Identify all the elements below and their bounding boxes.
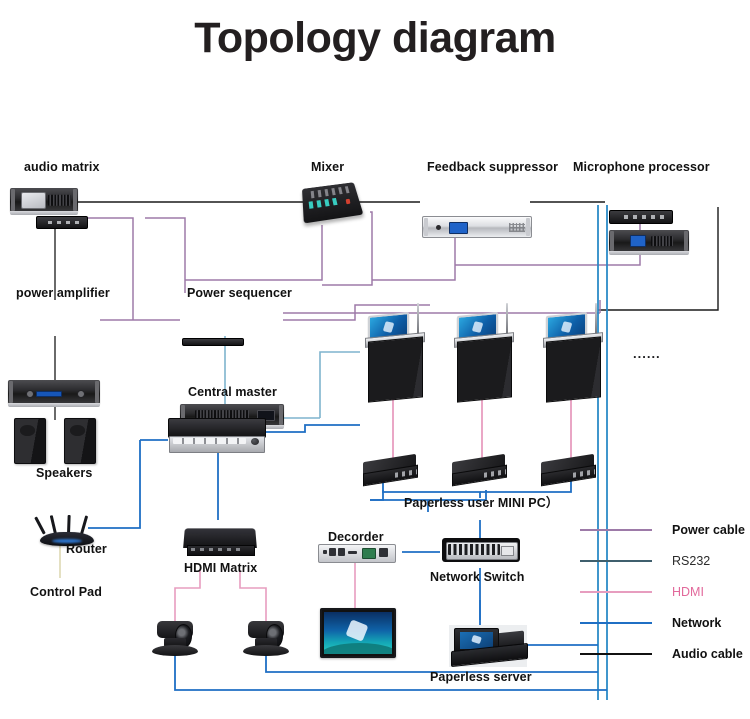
device-feedback-suppressor[interactable] xyxy=(422,216,532,238)
label-paperless-mini-pc: Paperless user MINI PC） xyxy=(404,492,558,511)
camera-base xyxy=(152,645,198,656)
display-panel xyxy=(449,222,468,234)
legend-item-rs232: RS232 xyxy=(580,553,748,569)
port-row xyxy=(624,215,669,219)
switch-port-array xyxy=(448,544,499,555)
microphone-stalk xyxy=(417,303,419,336)
rack-ear-right xyxy=(684,231,688,251)
decoder-led xyxy=(323,550,327,554)
label-network-switch: Network Switch xyxy=(430,570,524,584)
lift-cabinet xyxy=(368,336,423,403)
legend-item-hdmi: HDMI xyxy=(580,584,748,600)
device-power-amplifier[interactable] xyxy=(8,380,100,404)
vent-grille xyxy=(651,236,673,246)
hdmi-matrix-ports xyxy=(191,548,241,551)
lift-cabinet xyxy=(457,336,512,403)
label-control-pad: Control Pad xyxy=(30,585,102,599)
label-router: Router xyxy=(66,542,107,556)
legend-label-audio-cable: Audio cable xyxy=(672,646,743,662)
decoder-slot xyxy=(348,551,357,554)
device-mini-pc-2[interactable] xyxy=(451,458,509,484)
microphone-stalk xyxy=(506,303,508,336)
vent-grille xyxy=(509,223,524,232)
label-power-amplifier: power amplifier xyxy=(16,286,110,300)
device-power-sequencer-bar xyxy=(182,338,244,346)
indicator-led xyxy=(436,225,441,230)
device-audio-matrix-expander[interactable] xyxy=(36,216,88,229)
label-hdmi-matrix: HDMI Matrix xyxy=(184,561,257,575)
antenna-1 xyxy=(34,516,45,534)
antenna-2 xyxy=(50,515,57,534)
port-row xyxy=(48,221,84,225)
device-speaker-right[interactable] xyxy=(64,418,96,464)
central-master-buttons xyxy=(173,438,246,443)
device-mini-pc-3[interactable] xyxy=(540,458,598,484)
device-hdmi-matrix[interactable] xyxy=(184,528,256,558)
legend-swatch-rs232 xyxy=(580,560,652,562)
device-ptz-camera-2[interactable] xyxy=(243,620,289,656)
device-paperless-server[interactable] xyxy=(449,625,527,667)
lift-cabinet xyxy=(546,336,601,403)
rack-ear-left xyxy=(424,218,428,236)
device-speaker-left[interactable] xyxy=(14,418,46,464)
legend-swatch-audio-cable xyxy=(580,653,652,655)
device-network-switch[interactable] xyxy=(442,538,520,562)
rack-lip xyxy=(609,251,689,255)
camera-base xyxy=(243,645,289,656)
device-router[interactable] xyxy=(38,512,96,546)
gain-knob-right xyxy=(77,390,85,398)
decoder-port xyxy=(379,548,388,557)
legend-item-audio-cable: Audio cable xyxy=(580,646,748,662)
tv-screen-image xyxy=(324,612,392,654)
rack-ear-right xyxy=(526,218,530,236)
legend-label-power-cable: Power cable xyxy=(672,522,745,538)
label-microphone-processor: Microphone processor xyxy=(573,160,710,174)
legend-label-rs232: RS232 xyxy=(672,553,710,569)
legend-item-network: Network xyxy=(580,615,748,631)
central-master-top xyxy=(168,418,266,438)
device-display-tv[interactable] xyxy=(320,608,396,658)
rack-ear-left xyxy=(11,189,15,211)
label-paperless-server: Paperless server xyxy=(430,670,532,684)
display-panel xyxy=(630,235,646,247)
legend-swatch-hdmi xyxy=(580,591,652,593)
page-title: Topology diagram xyxy=(0,14,750,63)
device-mixer[interactable] xyxy=(303,182,359,220)
device-audio-matrix[interactable] xyxy=(10,188,78,212)
topology-diagram-canvas: Topology diagram xyxy=(0,0,750,719)
legend-label-network: Network xyxy=(672,615,721,631)
label-power-sequencer: Power sequencer xyxy=(187,286,292,300)
rack-ear-right xyxy=(95,381,99,403)
device-mini-pc-1[interactable] xyxy=(362,458,420,484)
legend-swatch-network xyxy=(580,622,652,624)
device-lift-monitor-3[interactable] xyxy=(542,312,602,398)
rack-ear-right xyxy=(73,189,77,211)
rack-lip xyxy=(10,211,78,215)
gain-knob-left xyxy=(26,390,34,398)
device-lift-monitor-1[interactable] xyxy=(364,312,424,398)
vent-grille xyxy=(48,195,71,206)
antenna-4 xyxy=(80,515,88,534)
microphone-stalk xyxy=(595,303,597,336)
label-more-seats: ...... xyxy=(633,346,661,361)
antenna-3 xyxy=(67,515,70,534)
rack-ear-right xyxy=(279,405,283,425)
device-decoder[interactable] xyxy=(318,544,394,561)
label-decoder: Decorder xyxy=(328,530,384,544)
label-speakers: Speakers xyxy=(36,466,92,480)
rack-ear-left xyxy=(9,381,13,403)
decoder-button-2 xyxy=(338,548,345,556)
label-central-master: Central master xyxy=(188,385,277,399)
legend: Power cable RS232 HDMI Network Audio cab… xyxy=(580,522,748,664)
rack-lip xyxy=(8,403,100,407)
device-ptz-camera-1[interactable] xyxy=(152,620,198,656)
decoder-button-1 xyxy=(329,548,336,556)
decoder-display xyxy=(362,548,376,559)
label-mixer: Mixer xyxy=(311,160,344,174)
legend-label-hdmi: HDMI xyxy=(672,584,704,600)
switch-uplink-module xyxy=(501,546,514,556)
device-microphone-processor-base[interactable] xyxy=(609,210,673,224)
rack-ear-left xyxy=(610,231,614,251)
amplifier-display xyxy=(36,391,62,397)
device-microphone-processor[interactable] xyxy=(609,230,689,252)
label-feedback-suppressor: Feedback suppressor xyxy=(427,160,558,174)
device-lift-monitor-2[interactable] xyxy=(453,312,513,398)
device-central-master[interactable] xyxy=(168,418,264,452)
label-audio-matrix: audio matrix xyxy=(24,160,100,174)
legend-swatch-power-cable xyxy=(580,529,652,531)
legend-item-power-cable: Power cable xyxy=(580,522,748,538)
audio-matrix-panel xyxy=(21,192,46,209)
